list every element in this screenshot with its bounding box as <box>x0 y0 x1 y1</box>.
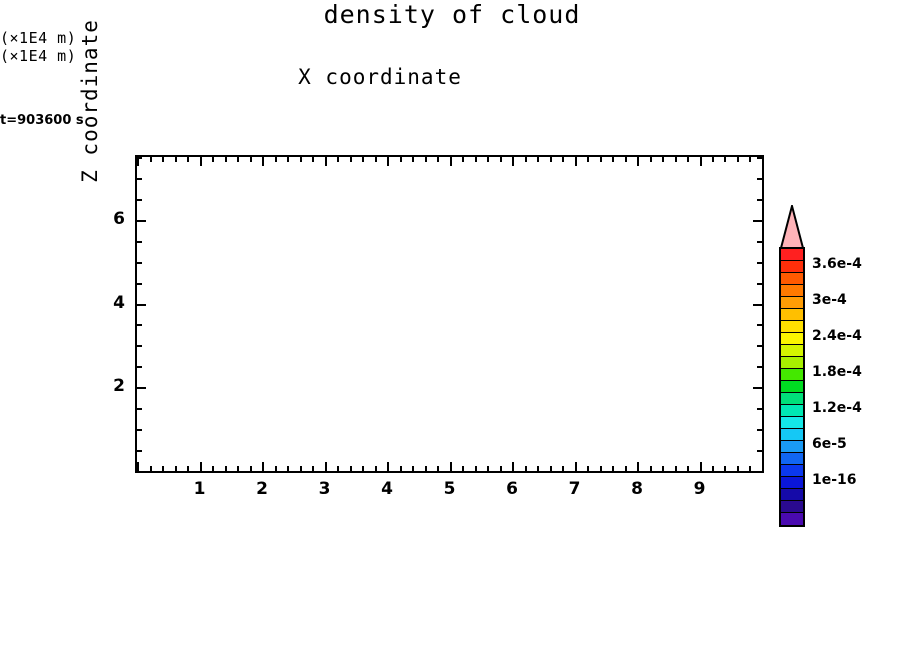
x-tick-label: 9 <box>685 479 715 499</box>
x-tick-label: 3 <box>310 479 340 499</box>
colorbar-band <box>781 297 803 309</box>
chart-title: density of cloud <box>0 0 904 29</box>
colorbar-band <box>781 309 803 321</box>
x-tick-label: 1 <box>185 479 215 499</box>
colorbar-tick-label: 1.8e-4 <box>812 364 862 380</box>
colorbar-band <box>781 273 803 285</box>
x-axis-unit: (×1E4 m) <box>0 47 904 65</box>
colorbar-band <box>781 357 803 369</box>
y-tick-label: 4 <box>95 293 125 313</box>
x-tick-label: 7 <box>560 479 590 499</box>
colorbar-over-arrow <box>779 205 805 249</box>
timestamp-label: t=903600 s <box>0 113 904 128</box>
colorbar-band <box>781 513 803 525</box>
x-tick-label: 6 <box>497 479 527 499</box>
colorbar-band <box>781 321 803 333</box>
colorbar-band <box>781 489 803 501</box>
colorbar-band <box>781 477 803 489</box>
colorbar-band <box>781 261 803 273</box>
y-tick-label: 6 <box>95 209 125 229</box>
x-tick-label: 2 <box>247 479 277 499</box>
colorbar-band <box>781 441 803 453</box>
colorbar-tick-label: 6e-5 <box>812 436 847 452</box>
y-axis-title: Z coordinate <box>78 11 102 191</box>
y-tick-label: 2 <box>95 376 125 396</box>
x-tick-label: 4 <box>372 479 402 499</box>
x-tick-label: 8 <box>622 479 652 499</box>
colorbar <box>779 247 805 527</box>
plot-frame <box>135 155 764 473</box>
colorbar-band <box>781 333 803 345</box>
colorbar-band <box>781 249 803 261</box>
colorbar-band <box>781 465 803 477</box>
colorbar-band <box>781 345 803 357</box>
colorbar-band <box>781 501 803 513</box>
colorbar-bands <box>779 247 805 527</box>
x-axis-title: X coordinate <box>0 65 760 89</box>
colorbar-tick-label: 3e-4 <box>812 292 847 308</box>
colorbar-band <box>781 393 803 405</box>
colorbar-band <box>781 417 803 429</box>
x-tick-label: 5 <box>435 479 465 499</box>
colorbar-band <box>781 381 803 393</box>
colorbar-band <box>781 285 803 297</box>
colorbar-band <box>781 369 803 381</box>
colorbar-band <box>781 405 803 417</box>
colorbar-tick-label: 1e-16 <box>812 472 857 488</box>
colorbar-tick-label: 3.6e-4 <box>812 256 862 272</box>
colorbar-band <box>781 429 803 441</box>
colorbar-band <box>781 453 803 465</box>
colorbar-tick-label: 2.4e-4 <box>812 328 862 344</box>
colorbar-tick-label: 1.2e-4 <box>812 400 862 416</box>
y-axis-unit: (×1E4 m) <box>0 29 904 47</box>
